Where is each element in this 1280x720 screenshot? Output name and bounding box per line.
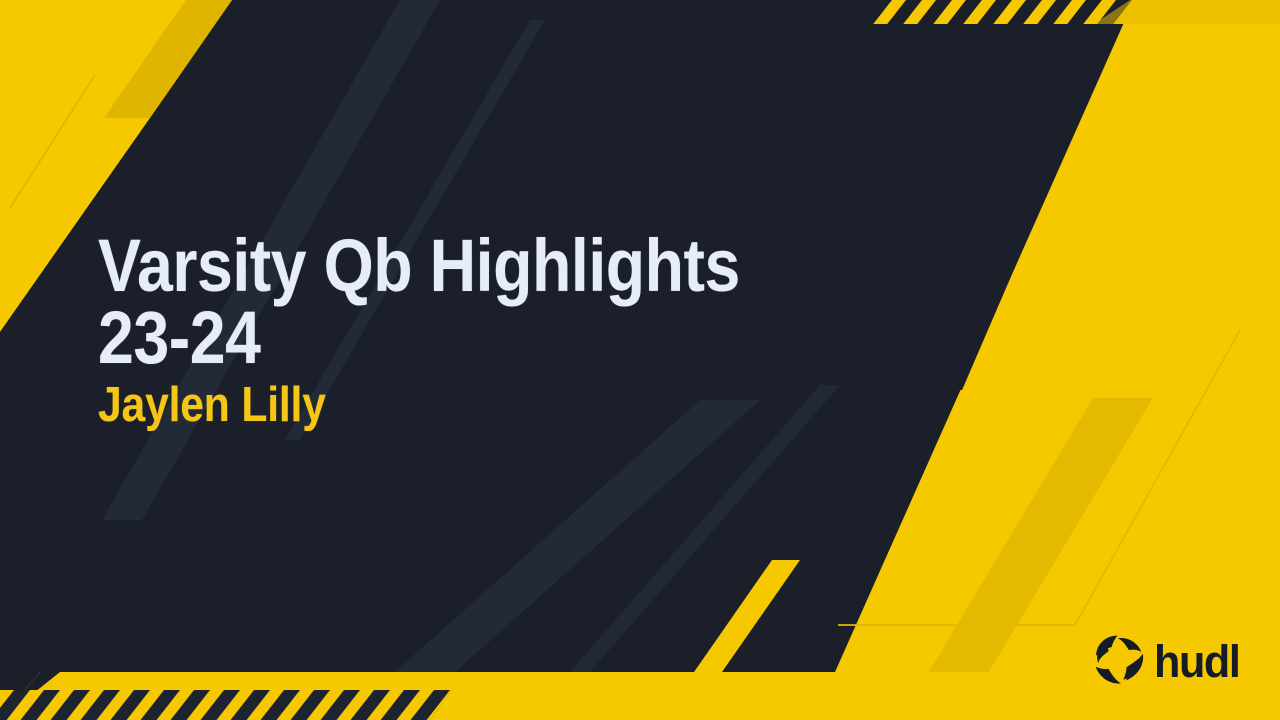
athlete-name: Jaylen Lilly: [98, 381, 759, 430]
hudl-pinwheel-logo-icon: [1093, 633, 1145, 690]
hazard-stripes-bottom-left: [0, 690, 452, 720]
hazard-band-bottom-left: [0, 690, 452, 720]
video-title-line-2: 23-24: [98, 303, 759, 373]
shape-topleft-yellow-block: [0, 0, 232, 120]
shape-topleft-upper: [0, 0, 232, 118]
video-title: Varsity Qb Highlights: [98, 231, 759, 301]
hudl-wordmark: hudl: [1154, 639, 1239, 684]
hudl-logo: hudl: [1093, 633, 1243, 690]
hazard-stripes-top-right: [862, 0, 1280, 72]
shape-slash-bar-1: [694, 560, 800, 672]
shape-topleft-yellow-step: [0, 0, 232, 120]
line-right-hairline-1: [1075, 330, 1240, 625]
shape-topleft-darkyellow-band: [104, 0, 232, 118]
hazard-tint-top-right: [1094, 0, 1280, 24]
title-text-block: Varsity Qb Highlights 23-24 Jaylen Lilly: [98, 231, 858, 430]
line-topleft-hairline: [10, 75, 95, 208]
stripe-navy-3: [395, 400, 760, 672]
shape-navy-step-darkyellow: [104, 0, 232, 118]
shape-right-yellow-wedge: [820, 0, 1280, 720]
highlight-title-card: Varsity Qb Highlights 23-24 Jaylen Lilly…: [0, 0, 1280, 720]
